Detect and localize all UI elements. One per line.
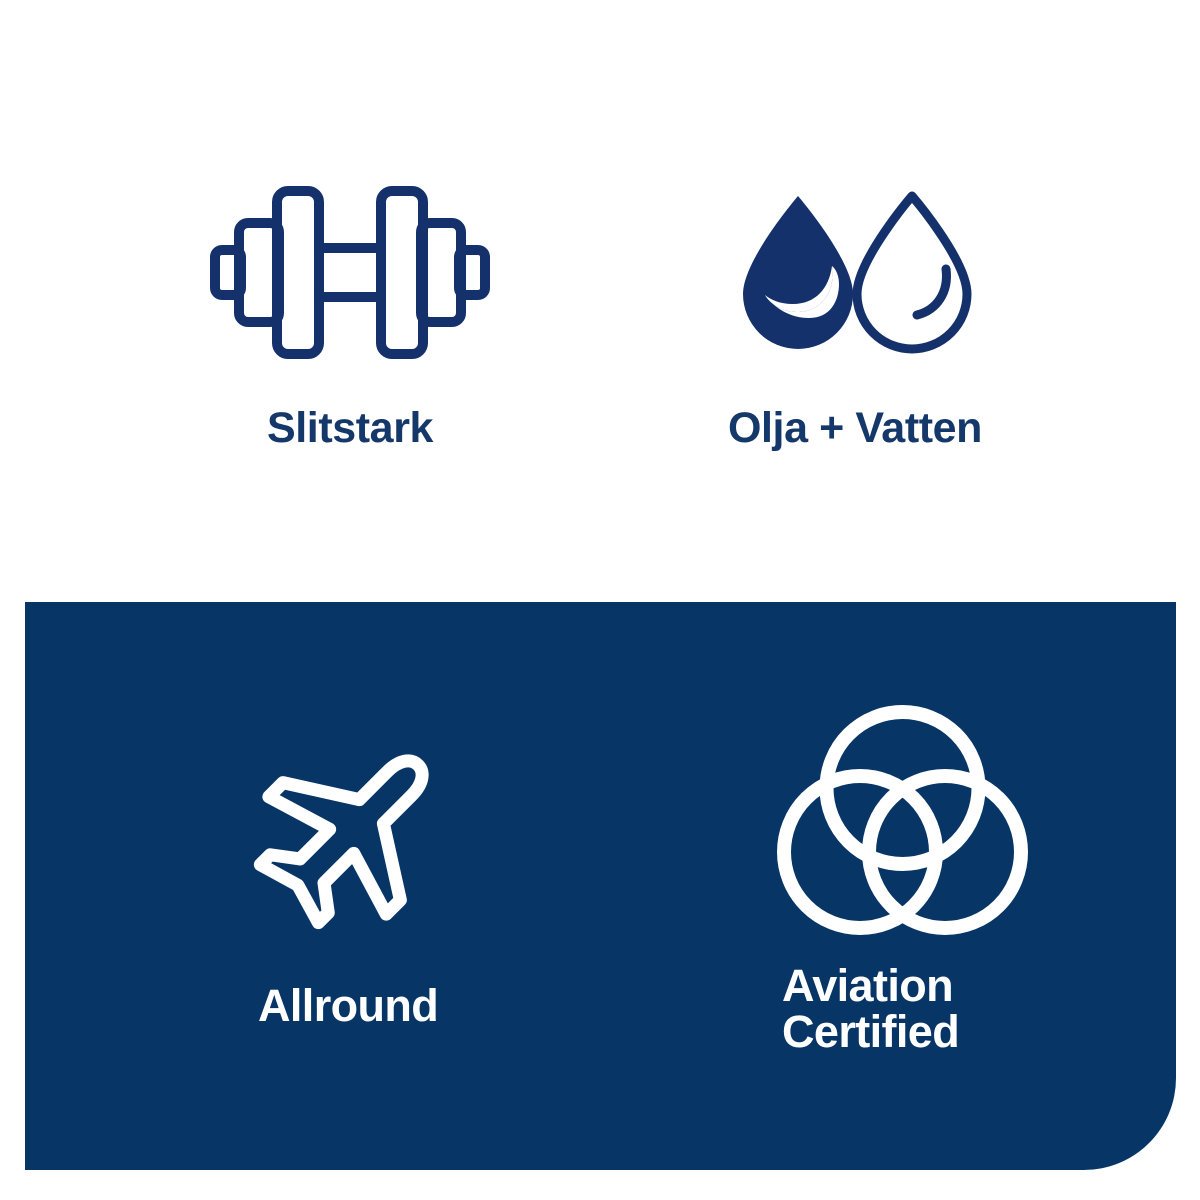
top-feature-section: Slitstark Olja + Vatten [0,0,1200,602]
feature-label-olja-vatten: Olja + Vatten [728,407,982,450]
bottom-feature-panel: Allround Aviation Certified [25,602,1176,1170]
oil-water-droplets-icon [735,180,975,365]
water-droplet-outline [857,196,967,349]
feature-label-slitstark: Slitstark [267,407,433,450]
three-overlapping-circles-icon [760,700,1180,935]
feature-label-aviation-certified: Aviation Certified [760,963,1180,1056]
feature-card-olja-vatten: Olja + Vatten [605,180,1105,450]
oil-droplet-solid [743,196,853,349]
dumbbell-icon [210,180,490,365]
feature-card-slitstark: Slitstark [100,180,600,450]
feature-card-aviation-certified: Aviation Certified [760,700,1180,1056]
airplane-icon [258,720,678,935]
feature-label-allround: Allround [258,983,678,1029]
feature-card-allround: Allround [258,720,678,1029]
